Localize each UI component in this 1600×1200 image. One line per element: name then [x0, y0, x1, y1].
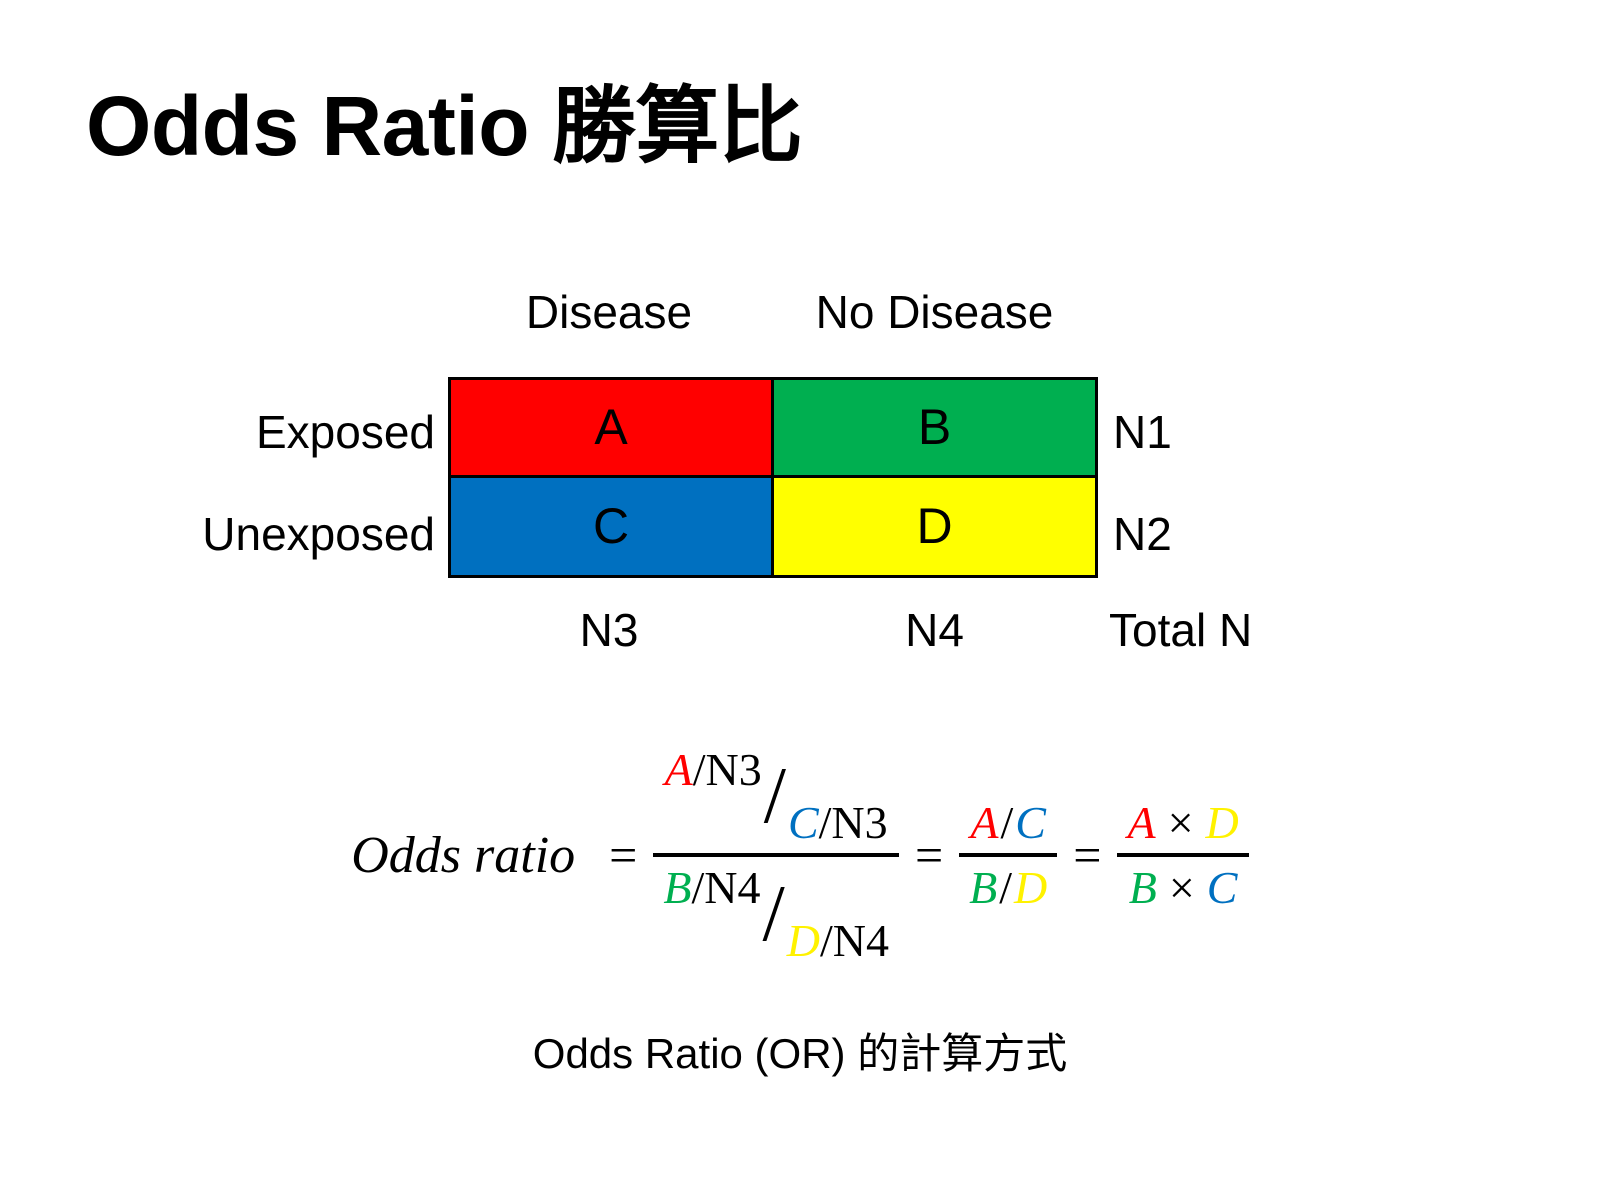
denom-n4-top: /N4: [691, 862, 760, 913]
var-b: B: [969, 862, 997, 913]
page-title: Odds Ratio 勝算比: [86, 82, 802, 170]
var-d: D: [787, 915, 820, 966]
equals-sign-3: =: [1057, 826, 1117, 884]
contingency-table: Disease No Disease Exposed Unexposed A B…: [0, 285, 1600, 665]
table-cell-c: C: [451, 478, 774, 576]
table-cell-d: D: [774, 478, 1095, 576]
var-a: A: [970, 797, 998, 848]
skew-fraction-numerator: A/N3 / C/N3: [665, 743, 888, 849]
table-cell-b: B: [774, 380, 1095, 478]
term3-numerator: A×D: [1117, 796, 1248, 853]
term2-denominator: B/D: [959, 857, 1057, 914]
skew-fraction-denominator: B/N4 / D/N4: [663, 861, 889, 967]
caption: Odds Ratio (OR) 的計算方式: [0, 1020, 1600, 1081]
term2-numerator: A/C: [960, 796, 1056, 853]
table-cell-a: A: [451, 380, 774, 478]
var-d: D: [1206, 797, 1239, 848]
var-a: A: [665, 744, 693, 795]
var-d: D: [1014, 862, 1047, 913]
var-b: B: [1129, 862, 1157, 913]
term3-denominator: B×C: [1119, 857, 1248, 914]
denom-n4-bottom: /N4: [820, 915, 889, 966]
denom-n3-top: /N3: [693, 744, 762, 795]
skew-top: A/N3: [665, 743, 762, 796]
formula-term-3: A×D B×C: [1117, 796, 1248, 914]
var-c: C: [1015, 797, 1046, 848]
column-header-disease: Disease: [447, 285, 771, 339]
slash-icon: /: [999, 797, 1016, 848]
formula-term-2: A/C B/D: [959, 796, 1057, 914]
skew-slash-icon: /: [760, 886, 786, 942]
var-c: C: [1207, 862, 1238, 913]
term1-numerator: A/N3 / C/N3: [655, 743, 898, 853]
multiply-icon: ×: [1157, 862, 1207, 913]
column-total-n4: N4: [771, 603, 1098, 657]
row-total-n2: N2: [1113, 507, 1172, 561]
var-a: A: [1127, 797, 1155, 848]
odds-ratio-formula: Odds ratio = A/N3 / C/N3 B/N4 / D/N4 = A…: [0, 735, 1600, 975]
skew-top: B/N4: [663, 861, 760, 914]
formula-term-1: A/N3 / C/N3 B/N4 / D/N4: [653, 743, 899, 967]
denom-n3-bottom: /N3: [819, 797, 888, 848]
column-total-n3: N3: [447, 603, 771, 657]
row-header-exposed: Exposed: [256, 405, 435, 459]
equals-sign-2: =: [899, 826, 959, 884]
grand-total: Total N: [1109, 603, 1252, 657]
equals-sign-1: =: [593, 826, 653, 884]
skew-bottom: D/N4: [787, 914, 889, 967]
slash-icon: /: [997, 862, 1014, 913]
column-header-no-disease: No Disease: [771, 285, 1098, 339]
skew-bottom: C/N3: [788, 796, 888, 849]
row-total-n1: N1: [1113, 405, 1172, 459]
multiply-icon: ×: [1156, 797, 1206, 848]
term1-denominator: B/N4 / D/N4: [653, 857, 899, 967]
table-matrix: A B C D: [448, 377, 1098, 578]
var-b: B: [663, 862, 691, 913]
row-header-unexposed: Unexposed: [202, 507, 435, 561]
var-c: C: [788, 797, 819, 848]
skew-slash-icon: /: [762, 768, 788, 824]
formula-label: Odds ratio: [351, 826, 593, 885]
